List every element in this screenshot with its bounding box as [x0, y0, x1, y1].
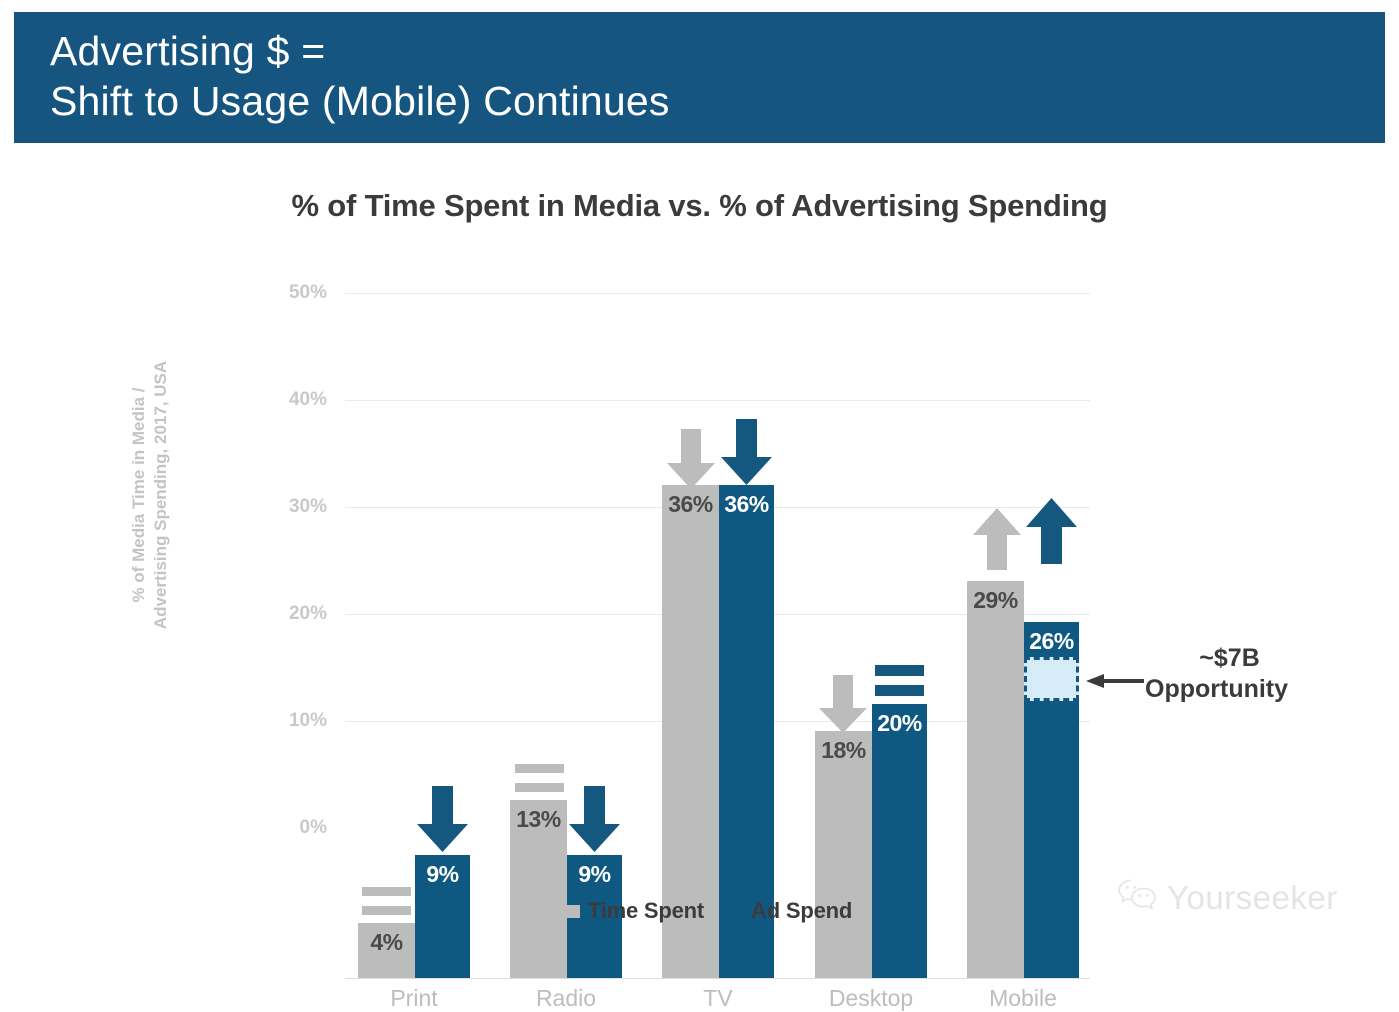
legend-label-ad-spend: Ad Spend: [751, 898, 852, 924]
bar-label-print-ad-spend: 9%: [415, 861, 470, 888]
x-tick-label-print: Print: [345, 985, 483, 1012]
y-tick-30: 30%: [257, 496, 327, 518]
opportunity-highlight-box[interactable]: [1024, 657, 1079, 701]
y-tick-40: 40%: [257, 389, 327, 411]
chart-title: % of Time Spent in Media vs. % of Advert…: [0, 188, 1399, 224]
chart-container: % of Time Spent in Media vs. % of Advert…: [0, 143, 1399, 960]
axis-baseline: [345, 978, 1090, 979]
bar-print-time-spent[interactable]: 4%: [358, 923, 415, 978]
y-tick-0: 0%: [257, 817, 327, 839]
trend-down-icon-desktop-time-spent: [819, 675, 867, 733]
legend-item-time-spent[interactable]: Time Spent: [567, 898, 704, 924]
trend-equal-icon-radio-time-spent: [515, 763, 564, 795]
watermark-text: Yourseeker: [1167, 879, 1338, 917]
bar-label-tv-ad-spend: 36%: [719, 491, 774, 518]
slide-title-line-1: Advertising $ =: [50, 26, 1385, 76]
trend-down-icon-tv-ad-spend: [721, 419, 772, 485]
gridline-50: [345, 293, 1090, 294]
y-tick-50: 50%: [257, 282, 327, 304]
bar-label-print-time-spent: 4%: [358, 929, 415, 956]
opportunity-annotation: ~$7B Opportunity: [1145, 643, 1288, 705]
bar-label-mobile-ad-spend: 26%: [1024, 628, 1079, 655]
legend-label-time-spent: Time Spent: [588, 898, 704, 924]
bar-desktop-time-spent[interactable]: 18%: [815, 731, 872, 978]
legend-swatch-time-spent: [567, 905, 580, 918]
slide-title-line-2: Shift to Usage (Mobile) Continues: [50, 76, 1385, 126]
trend-down-icon-tv-time-spent: [667, 429, 715, 489]
bar-label-radio-time-spent: 13%: [510, 806, 567, 833]
gridline-40: [345, 400, 1090, 401]
bar-label-mobile-time-spent: 29%: [967, 587, 1024, 614]
bar-label-tv-time-spent: 36%: [662, 491, 719, 518]
trend-equal-icon-desktop-ad-spend: [875, 664, 924, 698]
x-tick-label-tv: TV: [649, 985, 787, 1012]
opportunity-annotation-line-2: Opportunity: [1145, 674, 1288, 705]
opportunity-annotation-line-1: ~$7B: [1145, 643, 1288, 674]
x-tick-label-mobile: Mobile: [954, 985, 1092, 1012]
bar-label-radio-ad-spend: 9%: [567, 861, 622, 888]
bar-label-desktop-time-spent: 18%: [815, 737, 872, 764]
wechat-icon: [1118, 878, 1158, 917]
legend-item-ad-spend[interactable]: Ad Spend: [730, 898, 852, 924]
legend-swatch-ad-spend: [730, 905, 743, 918]
x-tick-label-desktop: Desktop: [802, 985, 940, 1012]
y-tick-20: 20%: [257, 603, 327, 625]
bar-radio-time-spent[interactable]: 13%: [510, 800, 567, 978]
y-axis-label: % of Media Time in Media / Advertising S…: [128, 285, 172, 705]
x-tick-label-radio: Radio: [497, 985, 635, 1012]
opportunity-callout-arrow-icon: [1086, 674, 1144, 693]
trend-up-icon-mobile-time-spent: [973, 508, 1021, 570]
trend-up-icon-mobile-ad-spend: [1026, 498, 1077, 564]
slide-header-banner: Advertising $ = Shift to Usage (Mobile) …: [14, 12, 1385, 143]
y-tick-10: 10%: [257, 710, 327, 732]
plot-area: 4% 9% Print 13% 9% Radio 36%: [345, 293, 1090, 978]
bar-label-desktop-ad-spend: 20%: [872, 710, 927, 737]
trend-down-icon-radio-ad-spend: [569, 786, 620, 852]
watermark: Yourseeker: [1118, 878, 1338, 917]
trend-down-icon-print-ad-spend: [417, 786, 468, 852]
bar-desktop-ad-spend[interactable]: 20%: [872, 704, 927, 978]
